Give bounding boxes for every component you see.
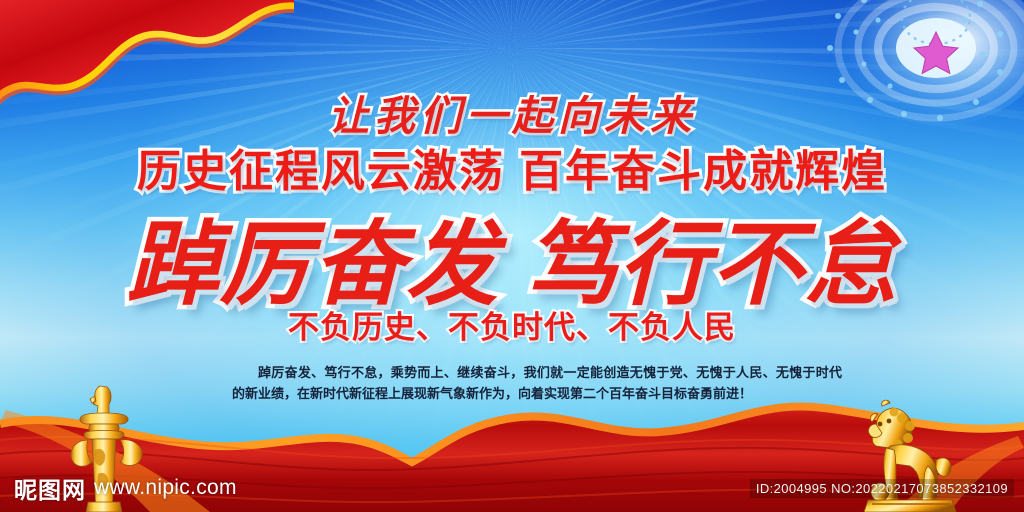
- script-headline: 让我们一起向未来: [0, 82, 1024, 142]
- site-name-cn: 昵图网: [14, 471, 86, 505]
- poster-canvas: 让我们一起向未来 历史征程风云激荡 百年奋斗成就辉煌 踔厉奋发 笃行不怠 不负历…: [0, 0, 1024, 512]
- site-url-text: www.nipic.com: [94, 476, 237, 500]
- tertiary-headline: 不负历史、不负时代、不负人民: [0, 302, 1024, 347]
- site-watermark: 昵图网 www.nipic.com: [14, 471, 237, 505]
- image-id-watermark: ID:2004995 NO:20220217073852332109: [750, 479, 1014, 498]
